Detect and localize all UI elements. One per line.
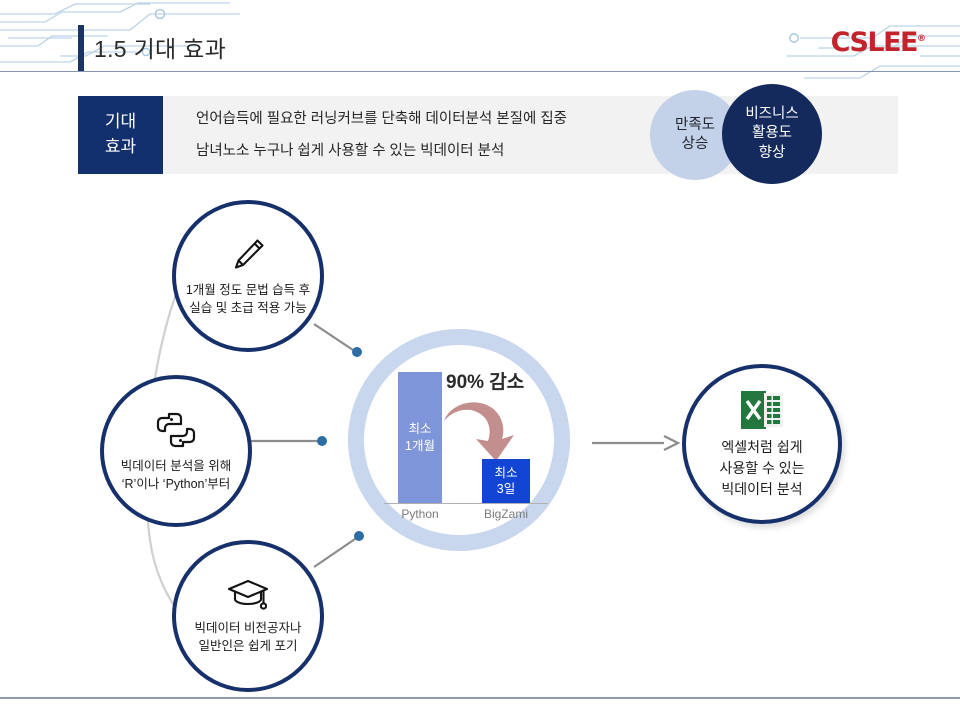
python-logo-icon xyxy=(155,409,197,451)
excel-file-icon xyxy=(739,389,785,431)
title-accent-bar xyxy=(78,25,84,71)
logo-text: CSLEE xyxy=(831,27,917,58)
node-python-requirement[interactable]: 빅데이터 분석을 위해 ‘R’이나 ‘Python’부터 xyxy=(100,375,252,527)
node-learning-curve-line2: 실습 및 초급 적용 가능 xyxy=(189,299,306,317)
node-nonmajor-dropout-line1: 빅데이터 비전공자나 xyxy=(195,619,302,637)
tick-label-python: Python xyxy=(386,507,454,521)
tick-label-bigzami: BigZami xyxy=(468,507,544,521)
banner-label: 기대 효과 xyxy=(78,96,163,174)
banner-text-line1: 언어습득에 필요한 러닝커브를 단축해 데이터분석 본질에 집중 xyxy=(196,104,626,136)
node-python-requirement-line1: 빅데이터 분석을 위해 xyxy=(121,457,231,475)
node-nonmajor-dropout[interactable]: 빅데이터 비전공자나 일반인은 쉽게 포기 xyxy=(172,540,324,692)
chart-axis-line xyxy=(384,503,548,504)
bar-bigzami: 최소 3일 xyxy=(482,459,530,503)
bar-python: 최소 1개월 xyxy=(398,372,442,503)
node-excel-outcome-line1: 엑셀처럼 쉽게 xyxy=(721,437,802,458)
graduation-cap-icon xyxy=(226,577,270,613)
page-title: 1.5 기대 효과 xyxy=(94,30,226,64)
node-nonmajor-dropout-line2: 일반인은 쉽게 포기 xyxy=(199,637,298,655)
registered-trademark-icon: ® xyxy=(917,34,926,44)
comparison-bar-chart: 90% 감소 최소 1개월 최소 3일 Python BigZami xyxy=(380,355,550,530)
cslee-logo: CSLEE® xyxy=(831,27,926,58)
slide-canvas: 1.5 기대 효과 CSLEE® 기대 효과 언어습득에 필요한 러닝커브를 단… xyxy=(0,0,960,720)
bar-python-label-line2: 1개월 xyxy=(405,438,435,454)
banner-label-line2: 효과 xyxy=(105,135,136,160)
node-excel-outcome[interactable]: 엑셀처럼 쉽게 사용할 수 있는 빅데이터 분석 xyxy=(682,364,842,524)
bar-python-label-line1: 최소 xyxy=(408,421,431,437)
header-divider xyxy=(0,71,960,72)
node-python-requirement-line2: ‘R’이나 ‘Python’부터 xyxy=(122,475,231,493)
node-learning-curve-line1: 1개월 정도 문법 습득 후 xyxy=(186,281,310,299)
banner-label-line1: 기대 xyxy=(105,110,136,135)
footer-divider xyxy=(0,697,960,699)
banner-text-line2: 남녀노소 누구나 쉽게 사용할 수 있는 빅데이터 분석 xyxy=(196,136,626,168)
node-excel-outcome-line2: 사용할 수 있는 xyxy=(719,458,804,479)
bubble-business-line2: 활용도 xyxy=(752,124,792,143)
bar-bigzami-label-line1: 최소 xyxy=(494,465,517,481)
reduction-arrow-icon xyxy=(442,391,526,465)
chart-annotation: 90% 감소 xyxy=(446,367,524,394)
bubble-business: 비즈니스 활용도 향상 xyxy=(722,84,822,184)
banner-text: 언어습득에 필요한 러닝커브를 단축해 데이터분석 본질에 집중 남녀노소 누구… xyxy=(196,104,626,168)
node-excel-outcome-line3: 빅데이터 분석 xyxy=(721,479,802,500)
node-learning-curve[interactable]: 1개월 정도 문법 습득 후 실습 및 초급 적용 가능 xyxy=(172,200,324,352)
bubble-business-line1: 비즈니스 xyxy=(745,105,798,124)
bubble-satisfaction-line2: 상승 xyxy=(682,135,709,154)
bar-bigzami-label-line2: 3일 xyxy=(497,481,515,497)
bubble-satisfaction-line1: 만족도 xyxy=(675,116,715,135)
bubble-business-line3: 향상 xyxy=(759,144,786,163)
pencil-icon xyxy=(228,235,268,275)
